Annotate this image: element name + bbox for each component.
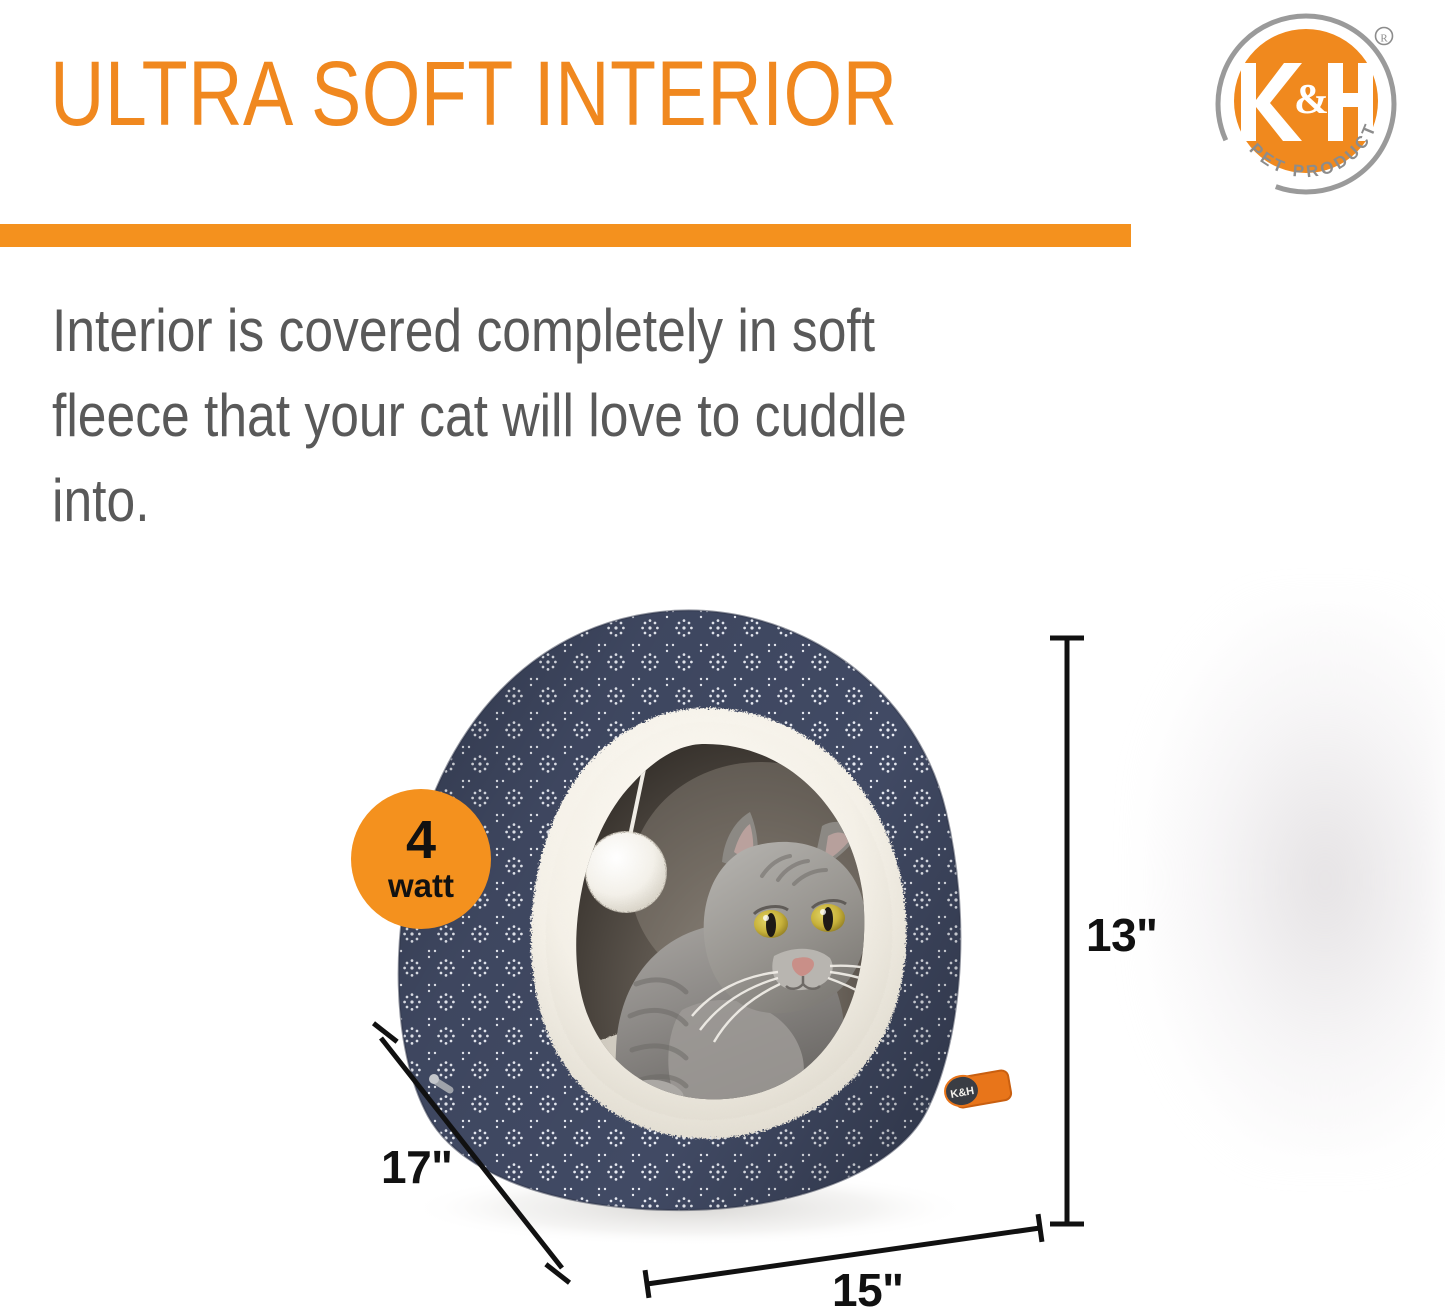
background-blur-object <box>1145 600 1445 1160</box>
svg-text:R: R <box>1380 33 1388 45</box>
dimension-label-width: 15" <box>832 1263 903 1311</box>
wattage-badge: 4 watt <box>351 789 491 929</box>
wattage-value: 4 <box>406 815 436 867</box>
dimension-label-height: 13" <box>1086 908 1157 962</box>
divider-bar <box>0 224 1131 247</box>
brand-logo: & PET PRODUCTS R <box>1208 8 1404 204</box>
dimension-label-depth: 17" <box>381 1140 452 1194</box>
page-title: ULTRA SOFT INTERIOR <box>50 48 898 140</box>
product-feature-image: ULTRA SOFT INTERIOR Interior is covered … <box>0 0 1445 1311</box>
registered-mark-icon: R <box>1376 28 1393 45</box>
svg-text:&: & <box>1294 77 1329 123</box>
wattage-unit: watt <box>388 869 454 904</box>
description-text: Interior is covered completely in soft f… <box>52 288 1015 544</box>
brand-tag-patch: K&H <box>943 1069 1013 1108</box>
